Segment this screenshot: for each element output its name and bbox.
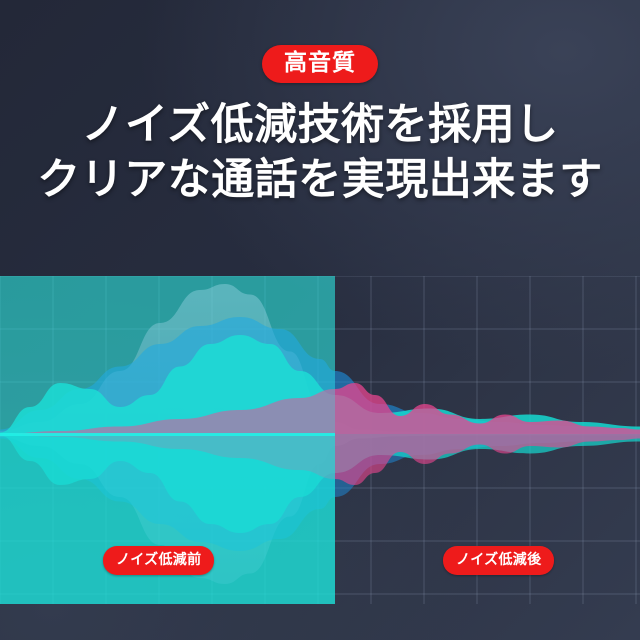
page-title: ノイズ低減技術を採用し クリアな通話を実現出来ます <box>0 98 640 208</box>
label-before-noise-reduction: ノイズ低減前 <box>103 546 214 575</box>
headline-line-2: クリアな通話を実現出来ます <box>0 153 640 208</box>
baseline-line <box>0 433 335 436</box>
promo-banner: 高音質 ノイズ低減技術を採用し クリアな通話を実現出来ます ノイズ低減前 ノイズ… <box>0 0 640 640</box>
label-after-noise-reduction: ノイズ低減後 <box>443 546 554 575</box>
baseline-glow-band <box>0 434 335 604</box>
headline-line-1: ノイズ低減技術を採用し <box>0 98 640 153</box>
quality-badge: 高音質 <box>262 45 378 83</box>
